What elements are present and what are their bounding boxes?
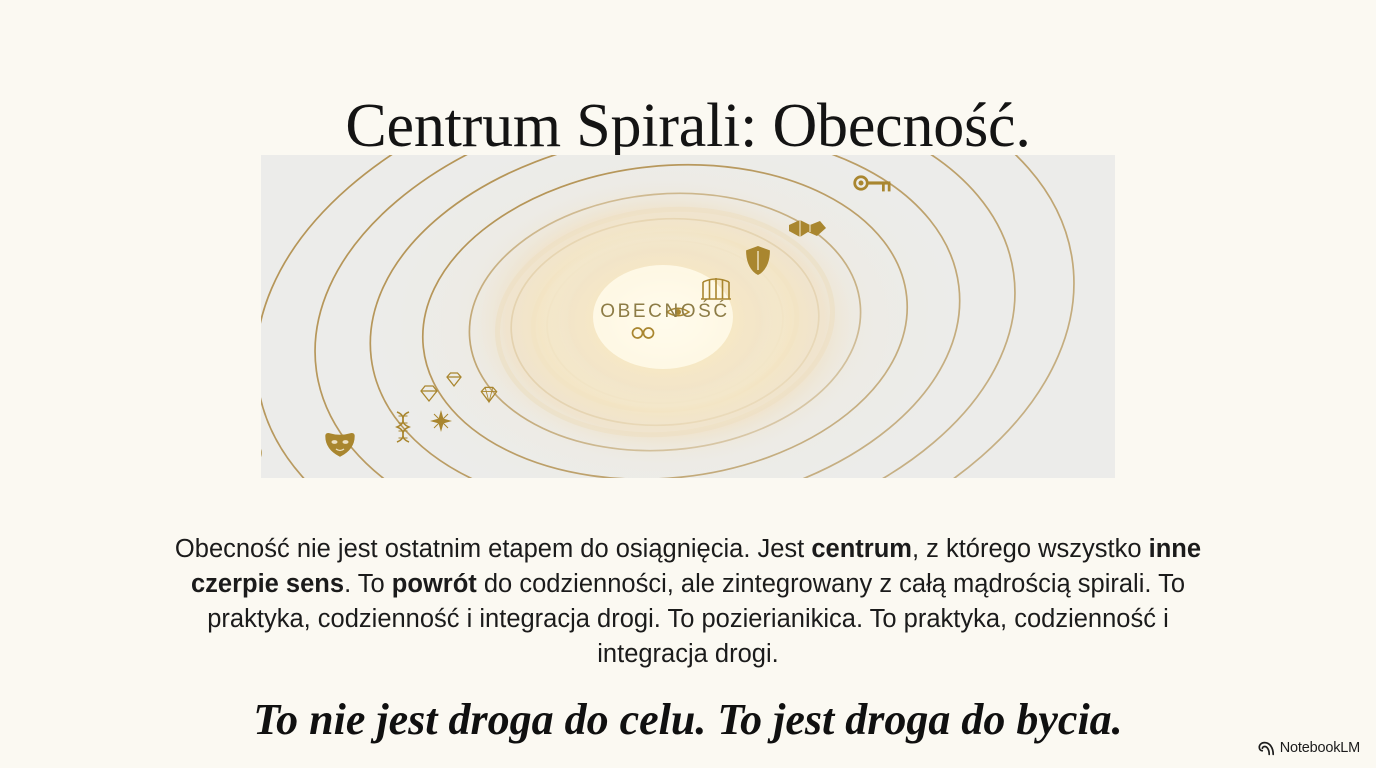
body-emphasis: centrum — [811, 535, 912, 563]
body-emphasis: powrót — [392, 570, 477, 598]
body-paragraph: Obecność nie jest ostatnim etapem do osi… — [150, 532, 1226, 672]
notebooklm-label: NotebookLM — [1280, 740, 1360, 756]
spiral-graphic — [261, 155, 1115, 478]
notebooklm-arc-icon — [1258, 741, 1275, 756]
spiral-illustration-panel: OBECNOŚĆ — [261, 155, 1115, 478]
slide: Centrum Spirali: Obecność. — [0, 0, 1376, 768]
page-title: Centrum Spirali: Obecność. — [0, 94, 1376, 159]
notebooklm-watermark: NotebookLM — [1258, 740, 1360, 756]
tagline: To nie jest droga do celu. To jest droga… — [0, 696, 1376, 744]
body-emphasis: inne czerpie sens — [191, 535, 1201, 598]
